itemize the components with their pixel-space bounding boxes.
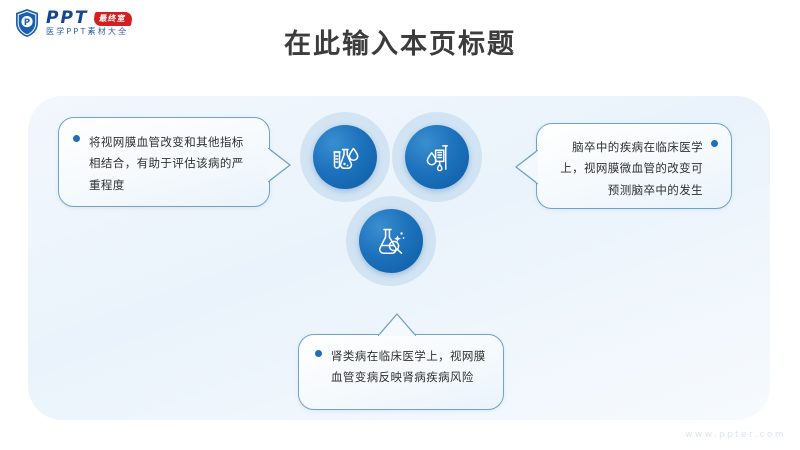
bullet-dot-icon — [73, 135, 80, 142]
diagram-node-2[interactable] — [405, 125, 469, 189]
page-title: 在此输入本页标题 — [0, 22, 800, 61]
bullet-dot-icon — [711, 140, 718, 147]
callout-left-tail — [268, 148, 294, 186]
callout-left[interactable]: 将视网膜血管改变和其他指标相结合，有助于评估该病的严重程度 — [58, 117, 270, 207]
blood-drop-test-tube-icon — [329, 141, 361, 173]
callout-bottom-text: 肾类病在临床医学上，视网膜血管变病反映肾病疾病风险 — [331, 346, 489, 389]
footer-watermark: www.ppter.com — [685, 430, 786, 440]
icon-cluster — [296, 108, 504, 308]
callout-bottom-tail — [378, 312, 416, 336]
bullet-dot-icon — [315, 350, 322, 357]
diagram-node-1[interactable] — [313, 125, 377, 189]
callout-left-text: 将视网膜血管改变和其他指标相结合，有助于评估该病的严重程度 — [89, 132, 253, 196]
diagram-node-3[interactable] — [359, 209, 423, 273]
callout-right-text: 脑卒中的疾病在临床医学上，视网膜微血管的改变可预测脑卒中的发生 — [551, 137, 703, 201]
callout-bottom[interactable]: 肾类病在临床医学上，视网膜血管变病反映肾病疾病风险 — [298, 334, 504, 410]
flask-magnifier-icon — [375, 225, 407, 257]
iv-drip-blood-bag-icon — [422, 142, 453, 173]
callout-right[interactable]: 脑卒中的疾病在临床医学上，视网膜微血管的改变可预测脑卒中的发生 — [536, 123, 732, 209]
callout-right-tail — [512, 150, 538, 188]
